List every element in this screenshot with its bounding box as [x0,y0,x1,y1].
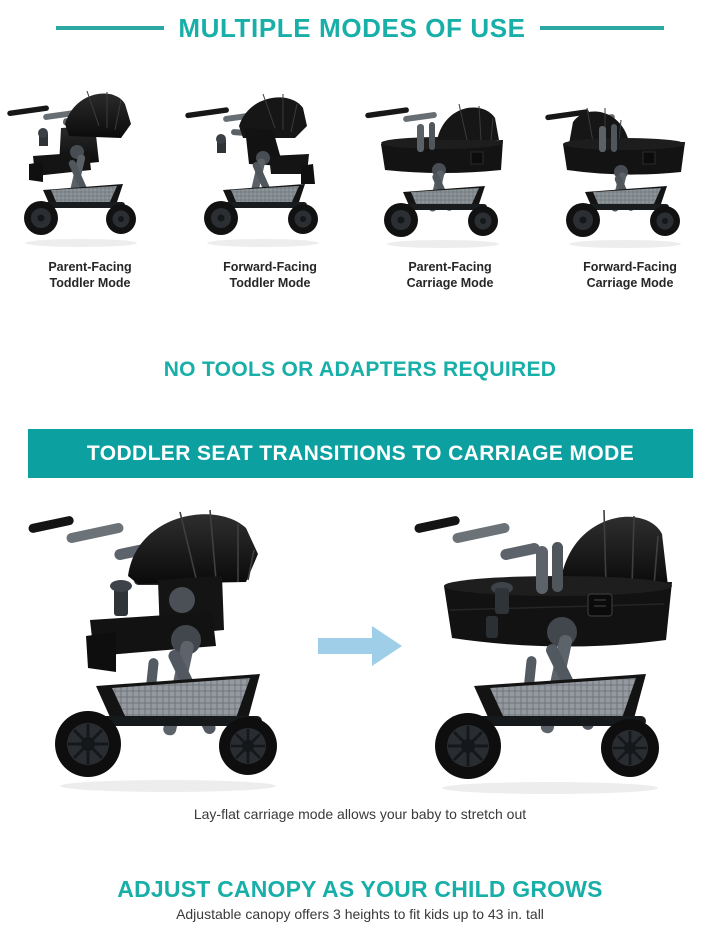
stroller-parent-facing-toddler-icon [3,78,178,253]
wheel-front-large [219,717,277,775]
mode-label-line2: Carriage Mode [583,275,677,291]
transition-illustration [0,490,720,802]
footer-subtitle: Adjustable canopy offers 3 heights to fi… [0,906,720,922]
wheel-front-large [601,719,659,777]
wheel-rear [24,201,58,235]
mode-label: Forward-Facing Carriage Mode [583,259,677,291]
footer-title: ADJUST CANOPY AS YOUR CHILD GROWS [0,876,720,903]
mode-label-line1: Parent-Facing [48,259,131,275]
modes-gallery: Parent-Facing Toddler Mode [0,78,720,313]
mode-label-line1: Forward-Facing [583,259,677,275]
arrow-right-icon [318,624,402,668]
title-rule-right [540,26,664,30]
transition-banner-text: TODDLER SEAT TRANSITIONS TO CARRIAGE MOD… [87,442,634,466]
mode-label: Parent-Facing Carriage Mode [407,259,494,291]
mode-label-line1: Forward-Facing [223,259,317,275]
title-rule-left [56,26,164,30]
mode-card-parent-facing-carriage: Parent-Facing Carriage Mode [360,78,540,313]
mode-label-line2: Toddler Mode [48,275,131,291]
wheel-rear-large [55,711,121,777]
transition-arrow [310,616,410,676]
mode-label-line2: Toddler Mode [223,275,317,291]
page-title: MULTIPLE MODES OF USE [178,15,525,41]
mode-label: Forward-Facing Toddler Mode [223,259,317,291]
mode-label-line1: Parent-Facing [407,259,494,275]
stroller-forward-facing-toddler-icon [183,78,358,253]
mode-card-forward-facing-toddler: Forward-Facing Toddler Mode [180,78,360,313]
stroller-parent-facing-carriage-icon [363,78,538,253]
mode-label: Parent-Facing Toddler Mode [48,259,131,291]
transition-caption: Lay-flat carriage mode allows your baby … [0,806,720,822]
transition-banner: TODDLER SEAT TRANSITIONS TO CARRIAGE MOD… [28,429,693,478]
stroller-forward-facing-carriage-icon [543,78,718,253]
stroller-toddler-seat-large-icon [10,490,310,802]
stroller-carriage-bassinet-large-icon [410,490,710,802]
subheading-no-tools: NO TOOLS OR ADAPTERS REQUIRED [0,358,720,382]
wheel-rear-large [435,713,501,779]
mode-card-parent-facing-toddler: Parent-Facing Toddler Mode [0,78,180,313]
mode-label-line2: Carriage Mode [407,275,494,291]
mode-card-forward-facing-carriage: Forward-Facing Carriage Mode [540,78,720,313]
wheel-front [106,204,136,234]
page-title-row: MULTIPLE MODES OF USE [0,8,720,48]
